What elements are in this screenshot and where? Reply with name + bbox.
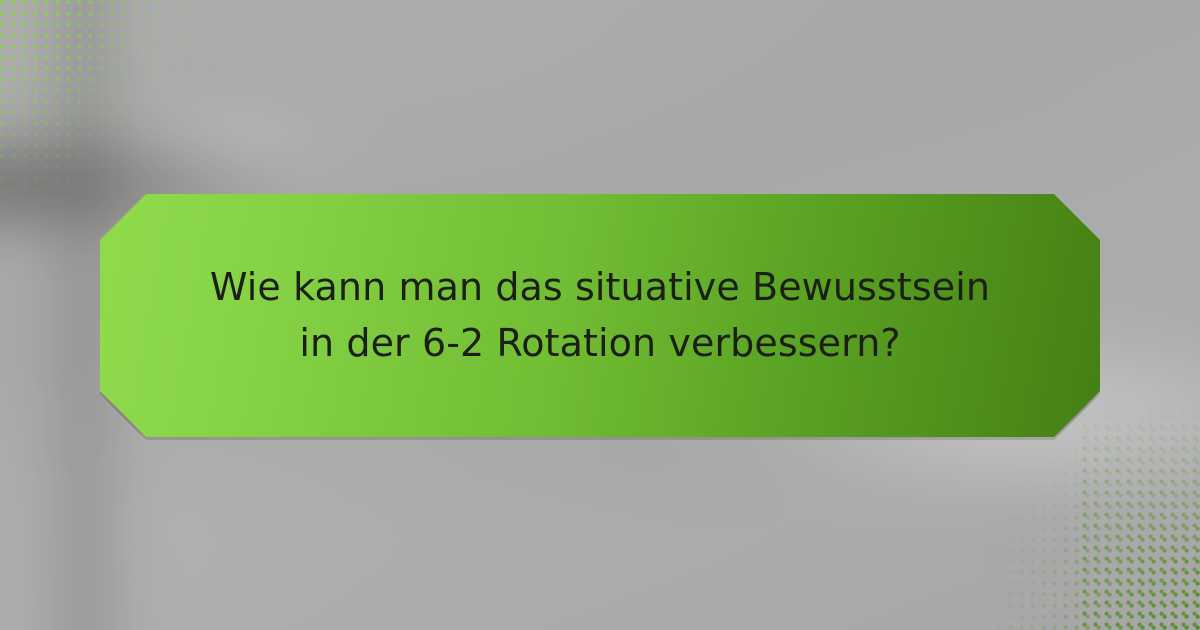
question-banner: Wie kann man das situative Bewusstsein i…: [100, 194, 1100, 437]
question-card-canvas: Wie kann man das situative Bewusstsein i…: [0, 0, 1200, 630]
question-text: Wie kann man das situative Bewusstsein i…: [205, 260, 995, 370]
